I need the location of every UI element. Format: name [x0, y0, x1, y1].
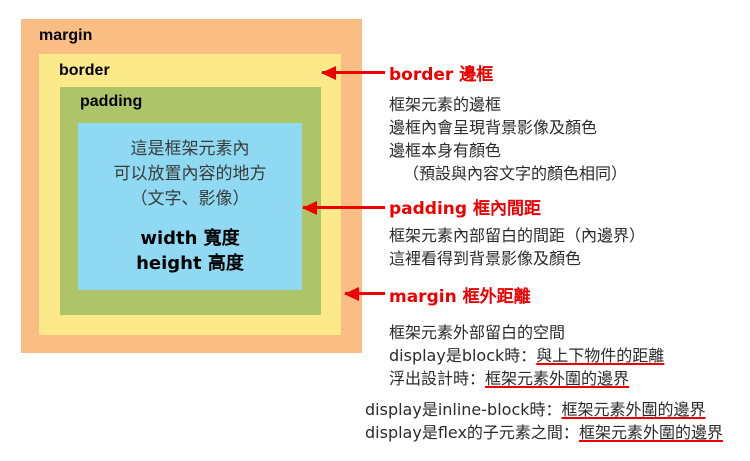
display-note-flex-prefix: display是flex的子元素之間： — [365, 423, 579, 442]
margin-note-2-emphasis: 與上下物件的距離 — [536, 346, 664, 365]
margin-annotation: margin 框外距離 框架元素外部留白的空間 display是block時：與… — [389, 282, 664, 390]
content-line-2: 可以放置內容的地方 — [78, 162, 302, 187]
border-note-1: 框架元素的邊框 — [389, 93, 627, 116]
display-note-inline-block-prefix: display是inline-block時： — [365, 400, 562, 419]
margin-note-3: 浮出設計時：框架元素外圍的邊界 — [389, 367, 664, 390]
margin-box: margin border padding 這是框架元素內 可以放置內容的地方 … — [21, 19, 362, 353]
padding-box-label: padding — [80, 93, 142, 111]
box-model-diagram: margin border padding 這是框架元素內 可以放置內容的地方 … — [0, 0, 750, 461]
padding-note-2: 這裡看得到背景影像及顏色 — [389, 247, 645, 270]
content-width-label: width 寬度 — [78, 226, 302, 251]
margin-annotation-body: 框架元素外部留白的空間 display是block時：與上下物件的距離 浮出設計… — [389, 321, 664, 390]
display-note-flex-emphasis: 框架元素外圍的邊界 — [579, 423, 723, 442]
margin-note-2-prefix: display是block時： — [389, 346, 536, 365]
border-note-3: 邊框本身有顏色 — [389, 139, 627, 162]
content-line-3: （文字、影像） — [78, 187, 302, 212]
margin-note-1: 框架元素外部留白的空間 — [389, 321, 664, 344]
content-height-label: height 高度 — [78, 251, 302, 276]
border-arrow-icon — [322, 71, 385, 74]
border-annotation-title: border 邊框 — [389, 60, 627, 85]
display-note-inline-block-emphasis: 框架元素外圍的邊界 — [562, 400, 706, 419]
margin-annotation-title: margin 框外距離 — [389, 282, 664, 307]
content-box-description: 這是框架元素內 可以放置內容的地方 （文字、影像） — [78, 137, 302, 212]
margin-note-2: display是block時：與上下物件的距離 — [389, 344, 664, 367]
padding-annotation-title: padding 框內間距 — [389, 194, 645, 219]
padding-note-1: 框架元素內部留白的間距（內邊界） — [389, 224, 645, 247]
margin-arrow-icon — [345, 292, 385, 295]
border-box-label: border — [59, 62, 110, 80]
margin-note-3-prefix: 浮出設計時： — [389, 369, 485, 388]
padding-annotation-body: 框架元素內部留白的間距（內邊界） 這裡看得到背景影像及顏色 — [389, 224, 645, 270]
content-box-dimensions: width 寬度 height 高度 — [78, 226, 302, 276]
margin-box-label: margin — [39, 27, 92, 45]
border-annotation-body: 框架元素的邊框 邊框內會呈現背景影像及顏色 邊框本身有顏色 （預設與內容文字的顏… — [389, 93, 627, 185]
display-note-inline-block: display是inline-block時：框架元素外圍的邊界 — [365, 398, 723, 421]
border-note-4: （預設與內容文字的顏色相同） — [389, 162, 627, 185]
border-note-2: 邊框內會呈現背景影像及顏色 — [389, 116, 627, 139]
display-note-flex: display是flex的子元素之間：框架元素外圍的邊界 — [365, 421, 723, 444]
content-box: 這是框架元素內 可以放置內容的地方 （文字、影像） width 寬度 heigh… — [78, 123, 302, 290]
padding-annotation: padding 框內間距 框架元素內部留白的間距（內邊界） 這裡看得到背景影像及… — [389, 194, 645, 270]
padding-arrow-icon — [303, 206, 385, 209]
border-box: border padding 這是框架元素內 可以放置內容的地方 （文字、影像）… — [39, 54, 341, 335]
display-notes: display是inline-block時：框架元素外圍的邊界 display是… — [365, 398, 723, 444]
padding-box: padding 這是框架元素內 可以放置內容的地方 （文字、影像） width … — [60, 87, 321, 315]
content-line-1: 這是框架元素內 — [78, 137, 302, 162]
margin-note-3-emphasis: 框架元素外圍的邊界 — [485, 369, 629, 388]
border-annotation: border 邊框 框架元素的邊框 邊框內會呈現背景影像及顏色 邊框本身有顏色 … — [389, 60, 627, 185]
